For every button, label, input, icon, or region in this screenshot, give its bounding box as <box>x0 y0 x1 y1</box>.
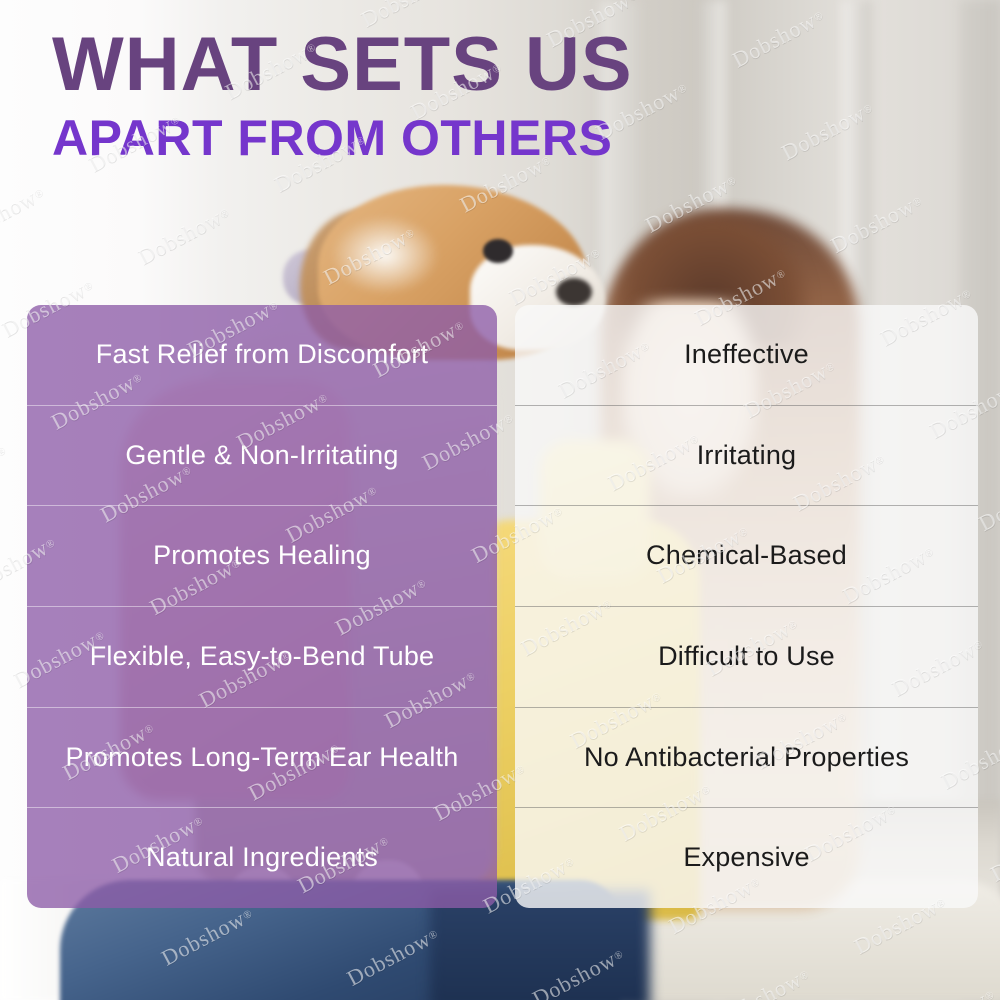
others-row: No Antibacterial Properties <box>515 707 978 808</box>
ours-row: Flexible, Easy-to-Bend Tube <box>27 606 497 707</box>
others-row: Expensive <box>515 807 978 908</box>
ours-benefits-panel: Fast Relief from Discomfort Gentle & Non… <box>27 305 497 908</box>
ours-item-label: Flexible, Easy-to-Bend Tube <box>90 641 435 673</box>
dog-eye <box>483 239 513 263</box>
others-item-label: No Antibacterial Properties <box>584 742 909 774</box>
ours-row: Promotes Long-Term Ear Health <box>27 707 497 808</box>
headline-line-1: WHAT SETS US <box>52 28 633 102</box>
headline: WHAT SETS US APART FROM OTHERS <box>52 28 633 165</box>
others-row: Ineffective <box>515 305 978 405</box>
others-row: Difficult to Use <box>515 606 978 707</box>
others-item-label: Expensive <box>683 842 809 874</box>
ours-item-label: Natural Ingredients <box>146 842 378 874</box>
ours-item-label: Promotes Healing <box>153 540 371 572</box>
ours-row: Natural Ingredients <box>27 807 497 908</box>
others-item-label: Chemical-Based <box>646 540 847 572</box>
ours-item-label: Fast Relief from Discomfort <box>96 339 428 371</box>
promo-infographic: WHAT SETS US APART FROM OTHERS Fast Reli… <box>0 0 1000 1000</box>
ours-item-label: Gentle & Non-Irritating <box>125 440 398 472</box>
others-row: Chemical-Based <box>515 505 978 606</box>
ours-row: Gentle & Non-Irritating <box>27 405 497 506</box>
others-item-label: Ineffective <box>684 339 809 371</box>
headline-line-2: APART FROM OTHERS <box>52 112 633 165</box>
ours-row: Fast Relief from Discomfort <box>27 305 497 405</box>
ours-item-label: Promotes Long-Term Ear Health <box>66 742 459 774</box>
dog-nose <box>556 278 592 306</box>
dog-white-marking <box>330 215 440 295</box>
others-row: Irritating <box>515 405 978 506</box>
ours-row: Promotes Healing <box>27 505 497 606</box>
others-drawbacks-panel: Ineffective Irritating Chemical-Based Di… <box>515 305 978 908</box>
others-item-label: Irritating <box>697 440 797 472</box>
others-item-label: Difficult to Use <box>658 641 835 673</box>
